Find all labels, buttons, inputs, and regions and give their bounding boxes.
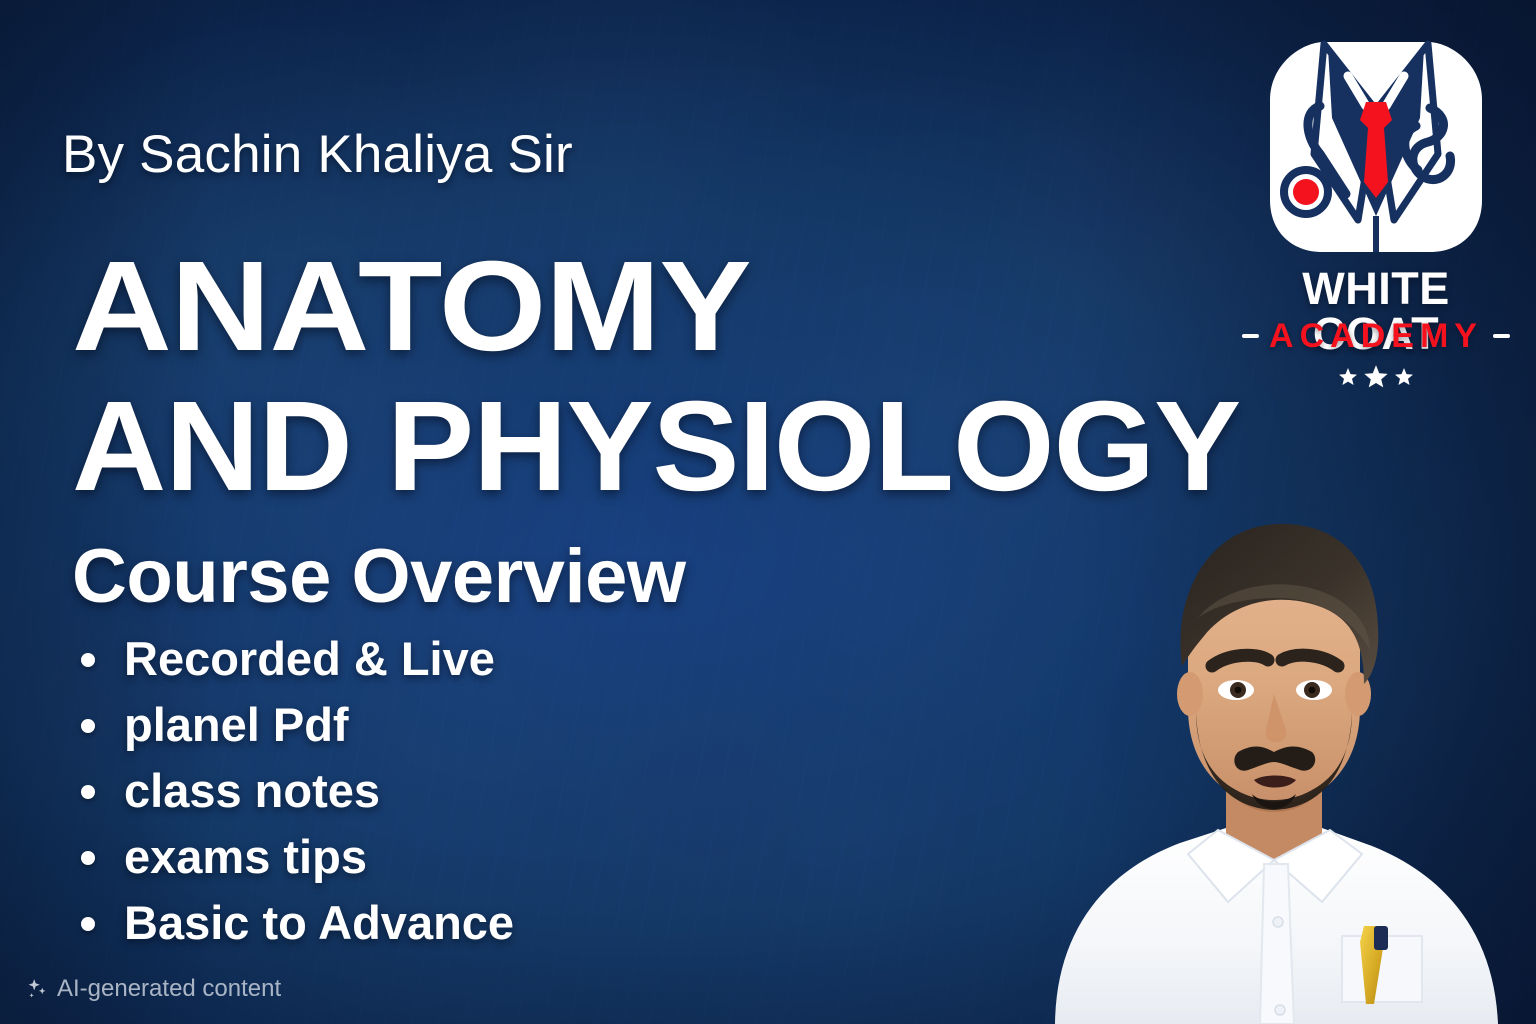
byline: By Sachin Khaliya Sir [62,124,573,185]
bullet-dot-icon [81,917,95,931]
list-item-label: planel Pdf [124,698,349,751]
section-subtitle: Course Overview [72,533,685,620]
list-item: Basic to Advance [72,899,514,946]
page-title-line1: ANATOMY [72,243,751,371]
logo-rule-left [1242,334,1259,338]
feature-list: Recorded & Live planel Pdf class notes e… [72,635,514,965]
list-item-label: exams tips [124,830,367,883]
list-item-label: Basic to Advance [124,896,514,949]
bullet-dot-icon [81,719,95,733]
bullet-dot-icon [81,851,95,865]
page-title-line2: AND PHYSIOLOGY [72,383,1240,511]
list-item: exams tips [72,833,514,880]
logo-stars [1242,364,1510,390]
list-item: Recorded & Live [72,635,514,682]
white-coat-stethoscope-icon [1262,34,1490,258]
watermark-label: AI-generated content [57,975,281,1003]
bullet-dot-icon [81,653,95,667]
star-icon [1394,367,1414,387]
list-item-label: class notes [124,764,380,817]
bullet-dot-icon [81,785,95,799]
list-item-label: Recorded & Live [124,632,495,685]
thumbnail-canvas: By Sachin Khaliya Sir ANATOMY AND PHYSIO… [0,0,1536,1024]
instructor-portrait [1012,498,1536,1024]
list-item: class notes [72,767,514,814]
logo-name-secondary: ACADEMY [1269,319,1483,353]
logo-rule-right [1493,334,1510,338]
sparkles-icon [24,976,50,1002]
logo-name-secondary-row: ACADEMY [1242,319,1510,353]
brand-logo: WHITE COAT ACADEMY [1242,34,1510,384]
star-icon [1363,364,1389,390]
ai-generated-watermark: AI-generated content [24,975,281,1003]
star-icon [1338,367,1358,387]
list-item: planel Pdf [72,701,514,748]
